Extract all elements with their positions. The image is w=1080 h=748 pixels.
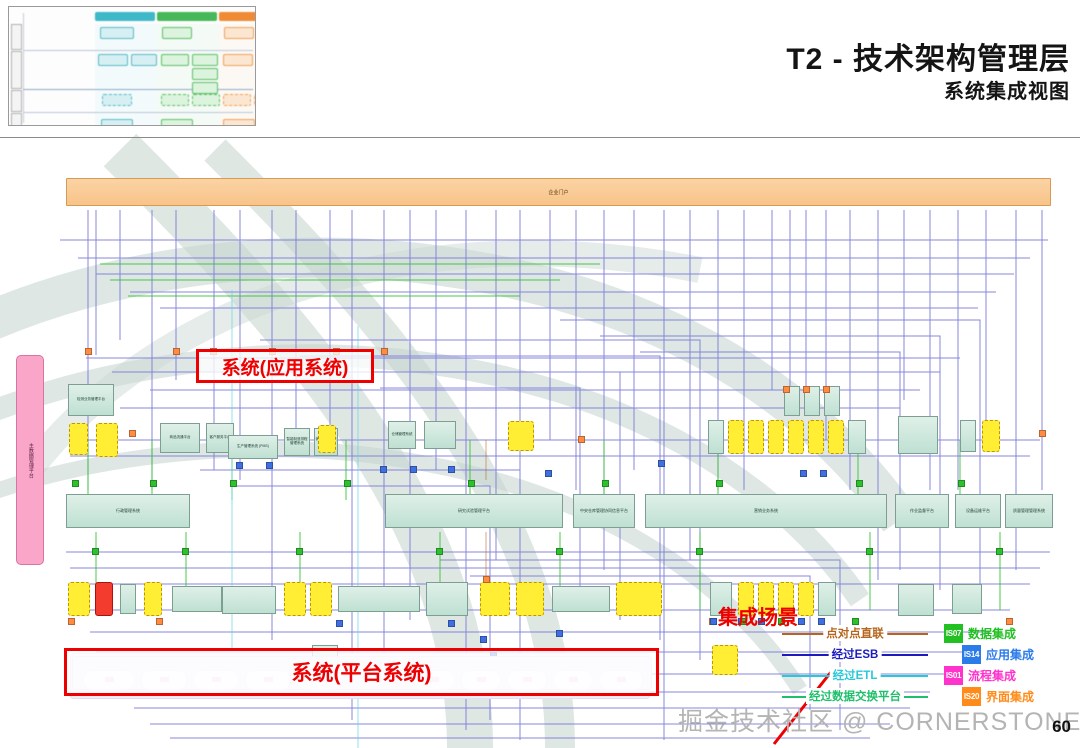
integration-chip[interactable] <box>516 582 544 616</box>
thumb-card <box>161 119 193 126</box>
data-integration-connector[interactable] <box>72 480 79 487</box>
data-integration-connector[interactable] <box>996 548 1003 555</box>
data-integration-connector[interactable] <box>866 548 873 555</box>
data-integration-connector[interactable] <box>230 480 237 487</box>
integration-chip[interactable] <box>310 582 332 616</box>
component-box[interactable] <box>898 416 938 454</box>
integration-chip[interactable] <box>96 423 118 457</box>
callout-application-systems: 系统(应用系统) <box>196 349 374 383</box>
ui-integration-connector[interactable] <box>483 576 490 583</box>
app-integration-connector[interactable] <box>556 630 563 637</box>
thumb-card <box>162 27 192 39</box>
legend-line-row-3: 经过ETL <box>780 666 930 686</box>
data-integration-connector[interactable] <box>556 548 563 555</box>
integration-chip[interactable] <box>982 420 1000 452</box>
legend-badge-item-app: IS14 应用集成 <box>962 645 1034 664</box>
title-block: T2 - 技术架构管理层 系统集成视图 <box>786 44 1070 104</box>
ui-integration-connector[interactable] <box>823 386 830 393</box>
data-integration-connector[interactable] <box>344 480 351 487</box>
legend: 点对点直联 经过ESB 经过ETL 经过数据交换平台 IS07 数据集成 IS1… <box>780 624 1080 712</box>
legend-line-label: 点对点直联 <box>823 625 887 641</box>
thumb-col-header-2 <box>157 12 217 21</box>
thumb-card <box>223 119 255 126</box>
data-integration-connector[interactable] <box>296 548 303 555</box>
integration-chip[interactable] <box>828 420 844 454</box>
app-integration-connector[interactable] <box>410 466 417 473</box>
integration-chip[interactable] <box>728 420 744 454</box>
callout-platform-systems: 系统(平台系统) <box>64 648 659 696</box>
page-title: T2 - 技术架构管理层 <box>786 44 1070 76</box>
component-box[interactable] <box>952 584 982 614</box>
thumb-card <box>192 82 218 94</box>
legend-badge-label: 数据集成 <box>968 625 1016 642</box>
thumb-band-1 <box>95 24 157 125</box>
data-integration-connector[interactable] <box>856 480 863 487</box>
component-box[interactable]: 商品流通平台 <box>160 423 200 453</box>
thumb-card <box>161 54 189 66</box>
app-system-box[interactable]: 质量管理管理系统 <box>1005 494 1053 528</box>
callout-application-systems-label: 系统(应用系统) <box>222 353 349 380</box>
thumb-row-label-3 <box>11 90 22 112</box>
thumb-band-3 <box>219 24 256 125</box>
app-integration-connector[interactable] <box>236 462 243 469</box>
mdm-bar-label: 主数据管理平台 <box>27 443 33 478</box>
navigation-thumbnail[interactable] <box>8 6 256 126</box>
data-integration-connector[interactable] <box>958 480 965 487</box>
data-integration-connector[interactable] <box>696 548 703 555</box>
legend-badge-label: 应用集成 <box>986 646 1034 663</box>
app-integration-connector[interactable] <box>710 618 717 625</box>
thumb-card <box>161 94 189 106</box>
portal-bar-label: 企业门户 <box>548 189 568 196</box>
thumb-card <box>192 68 218 80</box>
integration-chip[interactable] <box>616 582 662 616</box>
app-integration-connector[interactable] <box>266 462 273 469</box>
data-integration-connector[interactable] <box>182 548 189 555</box>
legend-line-label: 经过ESB <box>829 646 882 662</box>
component-box[interactable] <box>426 582 468 616</box>
thumbnail-map <box>9 7 255 125</box>
is01-badge-icon: IS01 <box>944 666 963 685</box>
alert-chip[interactable] <box>95 582 113 616</box>
integration-chip[interactable] <box>808 420 824 454</box>
data-integration-connector[interactable] <box>716 480 723 487</box>
legend-badge-item-process: IS01 流程集成 <box>944 666 1016 685</box>
app-system-box[interactable]: 中央仓库管理协同信息平台 <box>573 494 635 528</box>
data-integration-connector[interactable] <box>150 480 157 487</box>
thumb-row-label-2 <box>11 51 22 89</box>
component-box[interactable] <box>222 586 276 614</box>
data-integration-connector[interactable] <box>468 480 475 487</box>
legend-line-label: 经过ETL <box>830 667 881 683</box>
app-system-box[interactable]: 营销业务系统 <box>645 494 887 528</box>
ui-integration-connector[interactable] <box>803 386 810 393</box>
app-integration-connector[interactable] <box>380 466 387 473</box>
app-integration-connector[interactable] <box>820 470 827 477</box>
thumb-row-label-1 <box>11 24 22 50</box>
data-integration-connector[interactable] <box>92 548 99 555</box>
thumb-card <box>102 94 132 106</box>
thumb-card <box>100 27 134 39</box>
ui-integration-connector[interactable] <box>381 348 388 355</box>
integration-chip[interactable] <box>480 582 510 616</box>
callout-platform-systems-label: 系统(平台系统) <box>292 657 432 687</box>
app-integration-connector[interactable] <box>480 636 487 643</box>
data-integration-connector[interactable] <box>436 548 443 555</box>
thumb-card <box>98 54 128 66</box>
integration-chip[interactable] <box>144 582 162 616</box>
thumb-card <box>223 54 253 66</box>
component-box[interactable] <box>898 584 934 616</box>
thumb-card <box>223 94 251 106</box>
component-box[interactable] <box>848 420 866 454</box>
app-integration-connector[interactable] <box>448 466 455 473</box>
component-box[interactable]: 生产管理系统 (PMS) <box>228 435 278 459</box>
component-box[interactable] <box>552 586 610 612</box>
legend-line-row-1: 点对点直联 <box>780 624 930 644</box>
thumb-card <box>254 94 256 106</box>
is07-badge-icon: IS07 <box>944 624 963 643</box>
app-integration-connector[interactable] <box>800 470 807 477</box>
thumb-card <box>192 94 220 106</box>
ui-integration-connector[interactable] <box>1039 430 1046 437</box>
app-system-box[interactable]: 研究试验管理平台 <box>385 494 563 528</box>
is14-badge-icon: IS14 <box>962 645 981 664</box>
component-box[interactable] <box>424 421 456 449</box>
ui-integration-connector[interactable] <box>578 436 585 443</box>
legend-badge-label: 流程集成 <box>968 667 1016 684</box>
data-integration-connector[interactable] <box>602 480 609 487</box>
integration-chip[interactable] <box>712 645 738 675</box>
component-box[interactable] <box>708 420 724 454</box>
ui-integration-connector[interactable] <box>129 430 136 437</box>
legend-line-row-2: 经过ESB <box>780 645 930 665</box>
thumb-grid-row-3 <box>23 112 253 113</box>
ui-integration-connector[interactable] <box>783 386 790 393</box>
page-subtitle: 系统集成视图 <box>786 81 1070 104</box>
ui-integration-connector[interactable] <box>85 348 92 355</box>
component-box[interactable]: 仓储管理系统 <box>388 421 416 449</box>
integration-chip[interactable] <box>318 425 336 453</box>
thumb-card <box>224 27 254 39</box>
component-box[interactable] <box>120 584 136 614</box>
component-box[interactable] <box>960 420 976 452</box>
ui-integration-connector[interactable] <box>173 348 180 355</box>
site-watermark: 掘金技术社区 @ CORNERSTONE <box>678 702 1080 738</box>
enterprise-portal-bar[interactable]: 企业门户 <box>66 178 1051 206</box>
integration-chip[interactable] <box>508 421 534 451</box>
integration-chip[interactable] <box>748 420 764 454</box>
integration-chip[interactable] <box>284 582 306 616</box>
app-integration-connector[interactable] <box>545 470 552 477</box>
legend-badge-item-data: IS07 数据集成 <box>944 624 1016 643</box>
component-box[interactable] <box>818 582 836 616</box>
integration-chip[interactable] <box>788 420 804 454</box>
thumb-col-header-3 <box>219 12 256 21</box>
thumb-card <box>131 54 157 66</box>
integration-chip[interactable] <box>69 423 88 455</box>
app-system-box[interactable]: 设备运维平台 <box>955 494 1001 528</box>
component-box[interactable] <box>338 586 420 612</box>
component-box[interactable]: 检测业务管理平台 <box>68 384 114 416</box>
integration-chip[interactable] <box>798 582 814 616</box>
thumb-row-label-4 <box>11 113 22 126</box>
page-number: 60 <box>1052 717 1071 737</box>
thumb-card <box>101 119 133 126</box>
ui-integration-connector[interactable] <box>68 618 75 625</box>
app-integration-connector[interactable] <box>448 620 455 627</box>
slide-header: T2 - 技术架构管理层 系统集成视图 <box>0 0 1080 140</box>
app-integration-connector[interactable] <box>336 620 343 627</box>
integration-chip[interactable] <box>768 420 784 454</box>
thumb-grid-vline <box>23 13 24 123</box>
header-divider <box>0 137 1080 138</box>
thumb-col-header-1 <box>95 12 155 21</box>
thumb-grid-row-1 <box>23 50 253 51</box>
ui-integration-connector[interactable] <box>156 618 163 625</box>
component-box[interactable] <box>172 586 222 612</box>
thumb-card <box>192 54 218 66</box>
component-box[interactable]: 智能制造排程管理系统 <box>284 428 310 456</box>
master-data-platform-bar[interactable]: 主数据管理平台 <box>16 355 44 565</box>
integration-chip[interactable] <box>68 582 90 616</box>
thumb-grid-row-2 <box>23 89 253 90</box>
app-system-box[interactable]: 行政管理系统 <box>66 494 190 528</box>
app-system-box[interactable]: 作业监督平台 <box>895 494 949 528</box>
app-integration-connector[interactable] <box>658 460 665 467</box>
